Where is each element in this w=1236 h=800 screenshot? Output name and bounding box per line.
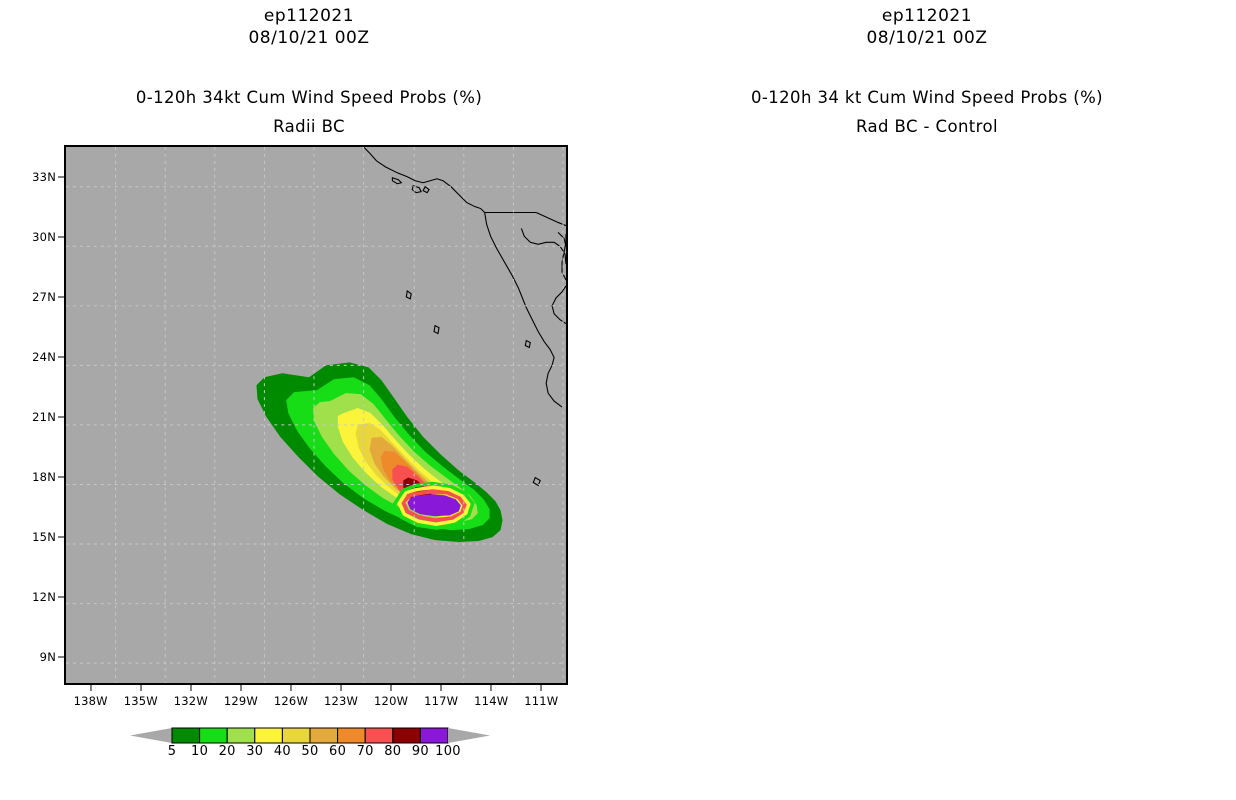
coastline-baja-west [485,213,562,408]
left-cycle: 08/10/21 00Z [0,28,618,48]
y-tick-mark-18N [58,477,64,478]
island-cedros [434,326,439,334]
left-probability-contours [256,362,502,542]
x-tick-mark-111W [541,685,542,691]
colorbar-swatch-4[interactable] [282,728,310,743]
x-tick-label-120W: 120W [368,694,414,708]
left-map-svg [66,147,566,683]
x-tick-mark-129W [240,685,241,691]
coastline-channel-islands [392,178,401,184]
left-title: 0-120h 34kt Cum Wind Speed Probs (%) [0,88,618,107]
x-tick-label-117W: 117W [418,694,464,708]
right-subtitle: Rad BC - Control [618,117,1236,136]
y-tick-label-15N: 15N [16,530,56,544]
left-colorbar[interactable]: 5102030405060708090100 [40,714,580,774]
y-tick-label-12N: 12N [16,590,56,604]
x-tick-label-129W: 129W [218,694,264,708]
left-subtitle: Radii BC [0,117,618,136]
y-tick-mark-33N [58,177,64,178]
colorbar-tick-label-100: 100 [426,744,470,759]
y-tick-label-24N: 24N [16,350,56,364]
x-tick-label-138W: 138W [68,694,114,708]
right-title: 0-120h 34 kt Cum Wind Speed Probs (%) [618,88,1236,107]
left-map-plot[interactable] [64,145,568,685]
y-tick-mark-30N [58,237,64,238]
x-tick-mark-138W [90,685,91,691]
wind-probability-figure: ep112021 08/10/21 00Z 0-120h 34kt Cum Wi… [0,0,1236,800]
island-socorro [525,341,530,348]
y-tick-label-30N: 30N [16,230,56,244]
colorbar-cap-low [130,728,172,743]
x-tick-label-135W: 135W [118,694,164,708]
x-tick-label-132W: 132W [168,694,214,708]
colorbar-swatch-1[interactable] [200,728,228,743]
border-mexico-diagonal [536,213,566,235]
island-guadalupe [406,291,411,299]
x-tick-mark-120W [391,685,392,691]
colorbar-cap-high [448,728,490,743]
x-tick-label-123W: 123W [318,694,364,708]
y-tick-mark-12N [58,597,64,598]
coastline-islet-b [423,187,429,193]
y-tick-mark-21N [58,417,64,418]
colorbar-swatch-7[interactable] [365,728,393,743]
colorbar-swatch-9[interactable] [420,728,448,743]
coastline-california [364,147,485,213]
colorbar-swatch-5[interactable] [310,728,338,743]
x-tick-label-114W: 114W [468,694,514,708]
coastline-baja-gulf-2 [558,232,566,246]
colorbar-swatch-0[interactable] [172,728,200,743]
panel-radii-bc: ep112021 08/10/21 00Z 0-120h 34kt Cum Wi… [0,0,618,800]
y-tick-label-21N: 21N [16,410,56,424]
x-tick-mark-132W [190,685,191,691]
right-storm-id: ep112021 [618,6,1236,26]
colorbar-swatch-6[interactable] [338,728,366,743]
y-tick-mark-9N [58,657,64,658]
x-tick-mark-126W [290,685,291,691]
colorbar-swatch-8[interactable] [393,728,421,743]
left-colorbar-swatches [40,714,580,748]
x-tick-mark-114W [491,685,492,691]
y-tick-label-9N: 9N [16,650,56,664]
y-tick-mark-24N [58,357,64,358]
y-tick-label-27N: 27N [16,290,56,304]
x-tick-mark-123W [341,685,342,691]
colorbar-swatch-3[interactable] [255,728,283,743]
colorbar-swatch-2[interactable] [227,728,255,743]
y-tick-label-18N: 18N [16,470,56,484]
x-tick-label-126W: 126W [268,694,314,708]
left-storm-id: ep112021 [0,6,618,26]
coastline-mainland-2 [552,286,566,324]
panel-rad-bc-minus-control: ep112021 08/10/21 00Z 0-120h 34 kt Cum W… [618,0,1236,800]
right-cycle: 08/10/21 00Z [618,28,1236,48]
y-tick-mark-27N [58,297,64,298]
y-tick-label-33N: 33N [16,170,56,184]
x-tick-label-111W: 111W [518,694,564,708]
y-tick-mark-15N [58,537,64,538]
x-tick-mark-117W [441,685,442,691]
x-tick-mark-135W [140,685,141,691]
